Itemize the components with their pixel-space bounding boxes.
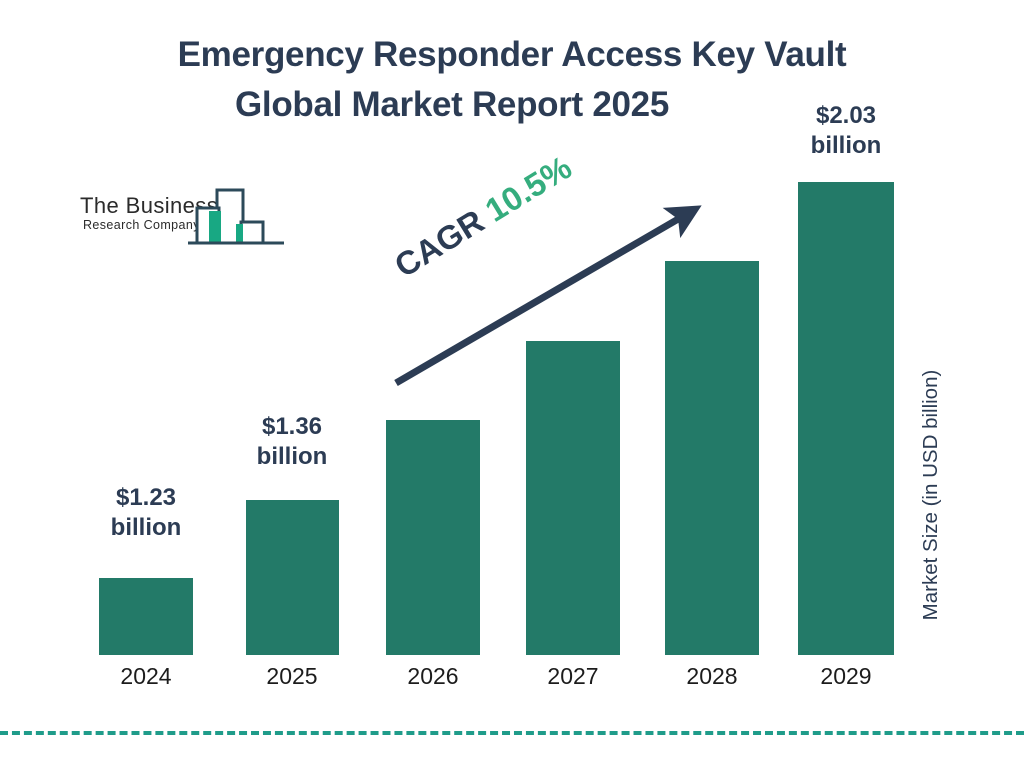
xtick-2028: 2028: [642, 662, 782, 690]
xtick-2029: 2029: [776, 662, 916, 690]
cagr-label: CAGR: [388, 202, 490, 284]
cagr-value: 10.5%: [479, 148, 578, 228]
bar-label-2024-unit: billion: [111, 514, 182, 541]
xtick-2024: 2024: [76, 662, 216, 690]
company-logo: The Business Research Company: [78, 186, 288, 256]
bar-2029[interactable]: [798, 182, 894, 655]
bar-label-2024: $1.23 billion: [76, 483, 216, 543]
bar-2027[interactable]: [526, 341, 620, 655]
chart-canvas: Emergency Responder Access Key Vault Glo…: [0, 0, 1024, 768]
xtick-2025: 2025: [222, 662, 362, 690]
bar-2026[interactable]: [386, 420, 480, 655]
y-axis-title: Market Size (in USD billion): [916, 330, 946, 660]
bar-label-2025: $1.36 billion: [222, 412, 362, 472]
bar-label-2024-amount: $1.23: [116, 484, 176, 511]
bar-label-2025-amount: $1.36: [262, 413, 322, 440]
bar-label-2029: $2.03 billion: [776, 101, 916, 161]
y-axis-title-text: Market Size (in USD billion): [919, 370, 943, 621]
bar-2025[interactable]: [246, 500, 339, 655]
bar-chart-logo-mark: [188, 186, 288, 261]
bar-2028[interactable]: [665, 261, 759, 655]
bar-label-2025-unit: billion: [257, 443, 328, 470]
title-line-1: Emergency Responder Access Key Vault: [0, 30, 1024, 80]
xtick-2027: 2027: [503, 662, 643, 690]
cagr-annotation: CAGR 10.5%: [388, 148, 578, 285]
footer-divider: [0, 731, 1024, 735]
xtick-2026: 2026: [363, 662, 503, 690]
bar-label-2029-amount: $2.03: [816, 102, 876, 129]
bar-2024[interactable]: [99, 578, 193, 655]
bar-label-2029-unit: billion: [811, 132, 882, 159]
